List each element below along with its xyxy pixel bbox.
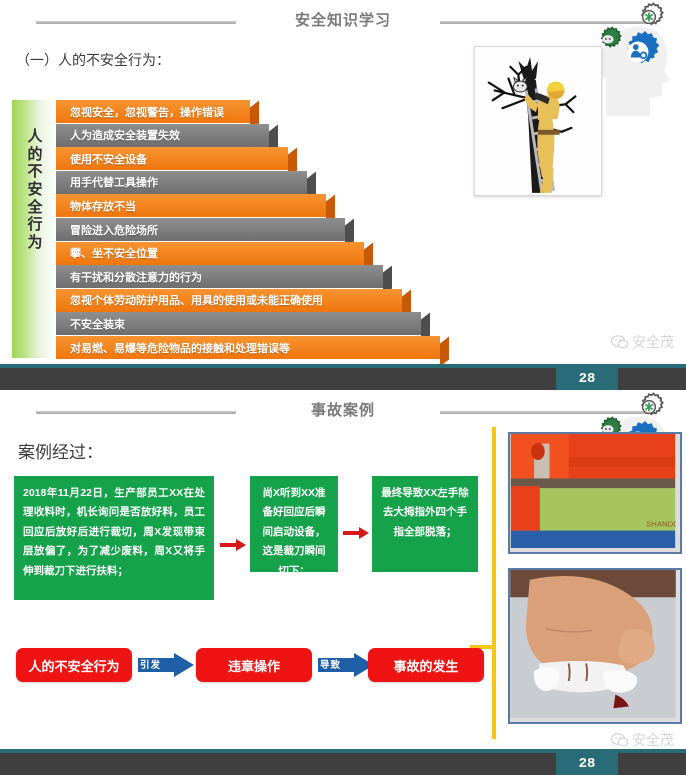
- staircase-row-8: 有干扰和分散注意力的行为: [56, 265, 383, 288]
- staircase-row-label: 冒险进入危险场所: [56, 222, 158, 238]
- watermark-slide1: 安全茂: [611, 332, 674, 352]
- case-step-box-2: 尚X听到XX准备好回应后瞬间启动设备，这是裁刀瞬间切下；: [250, 476, 338, 572]
- illustration-svg: [475, 47, 599, 193]
- page-title-2: 事故案例: [0, 399, 686, 420]
- staircase-row-7: 攀、坐不安全位置: [56, 242, 364, 265]
- staircase-row-edge: [440, 336, 449, 366]
- staircase-row-2: 人为造成安全装置失效: [56, 124, 269, 147]
- arrow-step2-to-step3: [343, 526, 369, 540]
- page-badge-slide1: 28: [556, 364, 618, 390]
- staircase-row-label: 不安全装束: [56, 316, 125, 332]
- cutting-machine-photo: SHANDONG: [508, 432, 682, 554]
- divider-vertical: [492, 427, 496, 739]
- unsafe-behavior-staircase: 人的不安全行为 忽视安全，忽视警告，操作错误人为造成安全装置失效使用不安全设备用…: [12, 100, 437, 362]
- staircase-row-face: 用手代替工具操作: [56, 171, 307, 194]
- staircase-row-label: 忽视个体劳动防护用品、用具的使用或未能正确使用: [56, 292, 323, 308]
- staircase-row-face: 有干扰和分散注意力的行为: [56, 265, 383, 288]
- staircase-row-4: 用手代替工具操作: [56, 171, 307, 194]
- flow-node-3: 事故的发生: [368, 648, 484, 682]
- staircase-row-label: 攀、坐不安全位置: [56, 245, 158, 261]
- staircase-row-label: 忽视安全，忽视警告，操作错误: [56, 104, 224, 120]
- slide1-header: 安全知识学习: [0, 0, 686, 38]
- header-rule-right-2: [440, 411, 650, 414]
- staircase-row-label: 人为造成安全装置失效: [56, 127, 180, 143]
- staircase-row-3: 使用不安全设备: [56, 147, 288, 170]
- staircase-row-label: 物体存放不当: [56, 198, 136, 214]
- staircase-row-label: 对易燃、易爆等危险物品的接触和处理错误等: [56, 340, 290, 356]
- staircase-row-1: 忽视安全，忽视警告，操作错误: [56, 100, 250, 123]
- flow-node-2: 违章操作: [196, 648, 312, 682]
- staircase-row-9: 忽视个体劳动防护用品、用具的使用或未能正确使用: [56, 289, 402, 312]
- watermark-text-slide2: 安全茂: [632, 730, 674, 750]
- section-label-unsafe-behavior: （一）人的不安全行为：: [16, 50, 170, 70]
- staircase-row-face: 攀、坐不安全位置: [56, 242, 364, 265]
- staircase-row-11: 对易燃、易爆等危险物品的接触和处理错误等: [56, 336, 440, 359]
- slide2-header: 事故案例: [0, 390, 686, 428]
- staircase-row-face: 使用不安全设备: [56, 147, 288, 170]
- staircase-row-face: 冒险进入危险场所: [56, 218, 345, 241]
- injured-hand-photo: [508, 568, 682, 724]
- staircase-row-face: 忽视安全，忽视警告，操作错误: [56, 100, 250, 123]
- wechat-icon: [611, 335, 628, 349]
- staircase-row-face: 物体存放不当: [56, 194, 326, 217]
- wechat-icon-2: [611, 733, 628, 747]
- staircase-vertical-label: 人的不安全行为: [22, 128, 48, 252]
- staircase-row-face: 不安全装束: [56, 312, 421, 335]
- watermark-slide2: 安全茂: [611, 730, 674, 750]
- flow-connector-label-2: 导致: [320, 657, 341, 671]
- staircase-row-label: 使用不安全设备: [56, 151, 147, 167]
- flow-connector-2: 导致: [318, 653, 374, 677]
- watermark-text-slide1: 安全茂: [632, 332, 674, 352]
- flow-node-1: 人的不安全行为: [16, 648, 132, 682]
- staircase-row-face: 人为造成安全装置失效: [56, 124, 269, 147]
- case-step-box-1: 2018年11月22日，生产部员工XX在处理收料时，机长询问是否放好料，员工回应…: [14, 476, 214, 600]
- staircase-row-label: 用手代替工具操作: [56, 174, 158, 190]
- arrow-step1-to-step2: [220, 538, 246, 552]
- staircase-row-label: 有干扰和分散注意力的行为: [56, 269, 202, 285]
- staircase-row-face: 忽视个体劳动防护用品、用具的使用或未能正确使用: [56, 289, 402, 312]
- flow-connector-label-1: 引发: [140, 657, 161, 671]
- slide-safety-knowledge: 安全知识学习 （一）人的不安全行为：: [0, 0, 686, 390]
- staircase-row-5: 物体存放不当: [56, 194, 326, 217]
- flow-connector-1: 引发: [138, 653, 194, 677]
- header-rule-right: [440, 21, 650, 24]
- svg-text:SHANDONG: SHANDONG: [646, 520, 676, 529]
- ladder-cat-illustration: [474, 46, 602, 196]
- section-label-case-process: 案例经过：: [18, 438, 103, 463]
- staircase-row-10: 不安全装束: [56, 312, 421, 335]
- staircase-row-face: 对易燃、易爆等危险物品的接触和处理错误等: [56, 336, 440, 359]
- slide-accident-case: 事故案例 案例经过： 2018年11月22日，生产部员工XX在处理收料时，机长询…: [0, 390, 686, 775]
- staircase-row-6: 冒险进入危险场所: [56, 218, 345, 241]
- page-title: 安全知识学习: [0, 9, 686, 30]
- page-badge-slide2: 28: [556, 749, 618, 775]
- case-step-box-3: 最终导致XX左手除去大拇指外四个手指全部脱落；: [372, 476, 478, 572]
